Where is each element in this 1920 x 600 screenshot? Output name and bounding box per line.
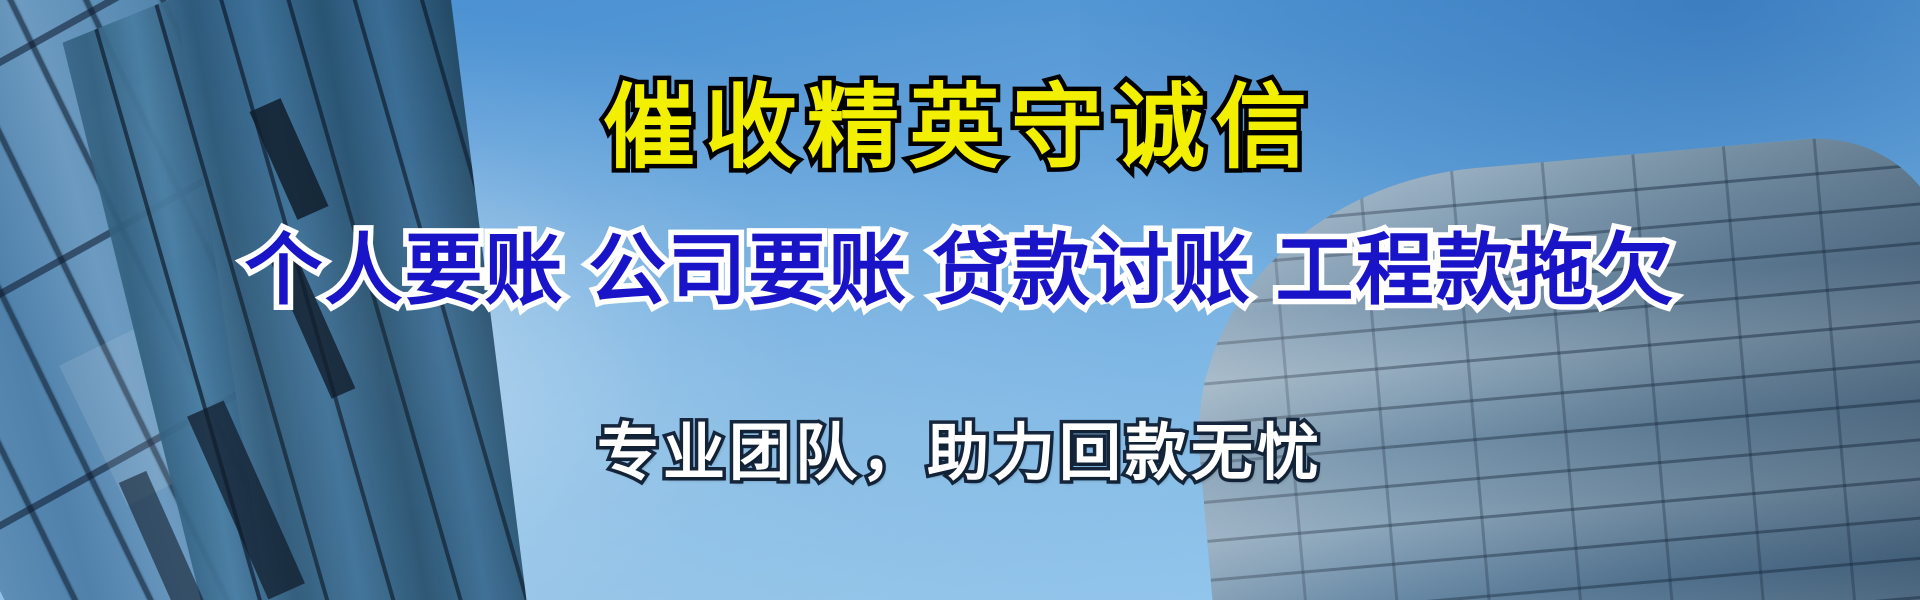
banner-headline: 催收精英守诚信	[0, 78, 1920, 179]
banner-copy: 催收精英守诚信 个人要账 公司要账 贷款讨账 工程款拖欠 专业团队，助力回款无忧	[0, 0, 1920, 600]
banner-subline: 个人要账 公司要账 贷款讨账 工程款拖欠	[0, 228, 1920, 314]
banner-tagline: 专业团队，助力回款无忧	[0, 420, 1920, 488]
promo-banner: 催收精英守诚信 个人要账 公司要账 贷款讨账 工程款拖欠 专业团队，助力回款无忧	[0, 0, 1920, 600]
